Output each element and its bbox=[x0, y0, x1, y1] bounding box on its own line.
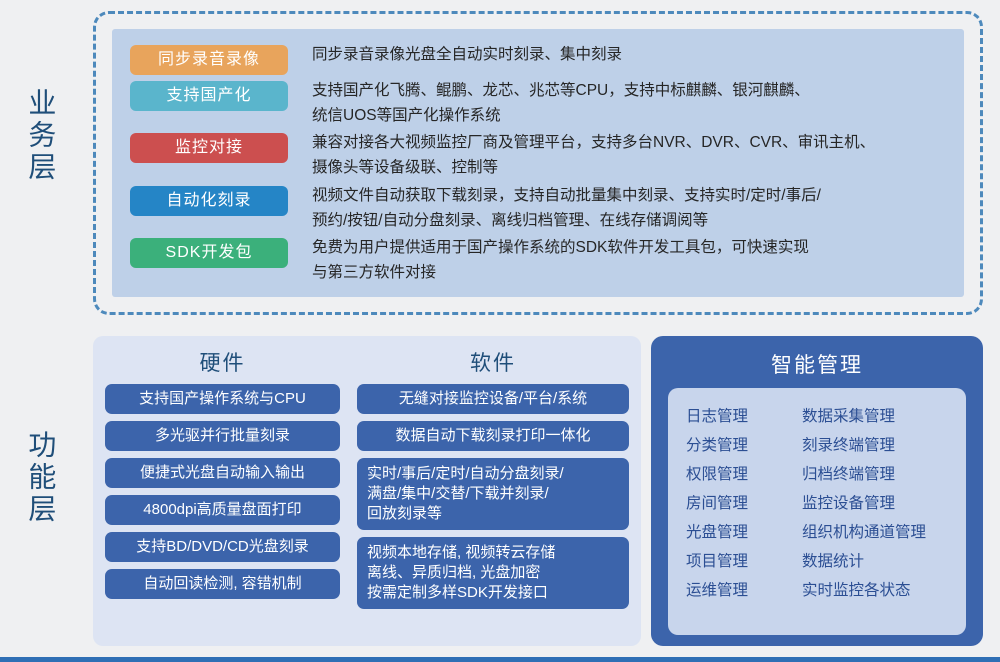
management-item[interactable]: 项目管理 bbox=[686, 547, 790, 576]
management-item[interactable]: 运维管理 bbox=[686, 576, 790, 605]
management-item-grid: 日志管理分类管理权限管理房间管理光盘管理项目管理运维管理 数据采集管理刻录终端管… bbox=[668, 388, 966, 635]
software-item-line: 实时/事后/定时/自动分盘刻录/ bbox=[367, 464, 619, 484]
hardware-item[interactable]: 多光驱并行批量刻录 bbox=[105, 421, 340, 451]
management-item[interactable]: 权限管理 bbox=[686, 460, 790, 489]
business-feature-description: 同步录音录像光盘全自动实时刻录、集中刻录 bbox=[312, 41, 954, 67]
hardware-column: 硬件 支持国产操作系统与CPU多光驱并行批量刻录便捷式光盘自动输入输出4800d… bbox=[101, 342, 344, 638]
management-column-left: 日志管理分类管理权限管理房间管理光盘管理项目管理运维管理 bbox=[680, 402, 790, 625]
management-item[interactable]: 日志管理 bbox=[686, 402, 790, 431]
business-feature-description-line: 预约/按钮/自动分盘刻录、离线归档管理、在线存储调阅等 bbox=[312, 208, 954, 233]
hardware-item[interactable]: 支持BD/DVD/CD光盘刻录 bbox=[105, 532, 340, 562]
software-item[interactable]: 无缝对接监控设备/平台/系统 bbox=[357, 384, 629, 414]
business-feature-row: 支持国产化支持国产化飞腾、鲲鹏、龙芯、兆芯等CPU，支持中标麒麟、银河麒麟、统信… bbox=[112, 77, 964, 130]
function-layer-panel: 硬件 支持国产操作系统与CPU多光驱并行批量刻录便捷式光盘自动输入输出4800d… bbox=[93, 336, 641, 646]
business-feature-description-line: 同步录音录像光盘全自动实时刻录、集中刻录 bbox=[312, 42, 954, 67]
management-panel: 智能管理 日志管理分类管理权限管理房间管理光盘管理项目管理运维管理 数据采集管理… bbox=[651, 336, 983, 646]
software-item-line: 无缝对接监控设备/平台/系统 bbox=[365, 389, 621, 409]
management-item[interactable]: 刻录终端管理 bbox=[802, 431, 954, 460]
software-item-line: 回放刻录等 bbox=[367, 504, 619, 524]
business-feature-description: 视频文件自动获取下载刻录，支持自动批量集中刻录、支持实时/定时/事后/预约/按钮… bbox=[312, 182, 954, 233]
business-feature-badge[interactable]: 同步录音录像 bbox=[130, 45, 288, 75]
management-item[interactable]: 数据采集管理 bbox=[802, 402, 954, 431]
business-feature-description: 免费为用户提供适用于国产操作系统的SDK软件开发工具包，可快速实现与第三方软件对… bbox=[312, 234, 954, 285]
business-feature-description-line: 统信UOS等国产化操作系统 bbox=[312, 103, 954, 128]
hardware-column-title: 硬件 bbox=[101, 347, 344, 377]
hardware-item[interactable]: 自动回读检测, 容错机制 bbox=[105, 569, 340, 599]
management-item[interactable]: 分类管理 bbox=[686, 431, 790, 460]
business-feature-badge[interactable]: SDK开发包 bbox=[130, 238, 288, 268]
management-panel-title: 智能管理 bbox=[659, 349, 975, 379]
business-feature-description-line: 免费为用户提供适用于国产操作系统的SDK软件开发工具包，可快速实现 bbox=[312, 235, 954, 260]
bottom-accent-bar bbox=[0, 657, 1000, 662]
hardware-item-list: 支持国产操作系统与CPU多光驱并行批量刻录便捷式光盘自动输入输出4800dpi高… bbox=[101, 384, 344, 606]
business-feature-description-line: 摄像头等设备级联、控制等 bbox=[312, 155, 954, 180]
management-item[interactable]: 光盘管理 bbox=[686, 518, 790, 547]
management-item[interactable]: 监控设备管理 bbox=[802, 489, 954, 518]
layer-label-function: 功能层 bbox=[26, 430, 55, 526]
business-feature-description-line: 与第三方软件对接 bbox=[312, 260, 954, 285]
software-item[interactable]: 视频本地存储, 视频转云存储离线、异质归档, 光盘加密按需定制多样SDK开发接口 bbox=[357, 537, 629, 609]
software-item-line: 视频本地存储, 视频转云存储 bbox=[367, 543, 619, 563]
management-column-right: 数据采集管理刻录终端管理归档终端管理监控设备管理组织机构通道管理数据统计实时监控… bbox=[790, 402, 954, 625]
business-feature-row: 监控对接兼容对接各大视频监控厂商及管理平台，支持多台NVR、DVR、CVR、审讯… bbox=[112, 129, 964, 182]
business-feature-badge[interactable]: 监控对接 bbox=[130, 133, 288, 163]
business-feature-badge[interactable]: 自动化刻录 bbox=[130, 186, 288, 216]
management-item[interactable]: 组织机构通道管理 bbox=[802, 518, 954, 547]
management-item[interactable]: 归档终端管理 bbox=[802, 460, 954, 489]
software-item-line: 满盘/集中/交替/下载并刻录/ bbox=[367, 484, 619, 504]
software-column-title: 软件 bbox=[353, 347, 633, 377]
business-feature-row: SDK开发包免费为用户提供适用于国产操作系统的SDK软件开发工具包，可快速实现与… bbox=[112, 234, 964, 287]
software-item[interactable]: 数据自动下载刻录打印一体化 bbox=[357, 421, 629, 451]
business-feature-row: 自动化刻录视频文件自动获取下载刻录，支持自动批量集中刻录、支持实时/定时/事后/… bbox=[112, 182, 964, 235]
software-item-line: 按需定制多样SDK开发接口 bbox=[367, 583, 619, 603]
management-item[interactable]: 实时监控各状态 bbox=[802, 576, 954, 605]
software-item-line: 离线、异质归档, 光盘加密 bbox=[367, 563, 619, 583]
business-feature-description: 支持国产化飞腾、鲲鹏、龙芯、兆芯等CPU，支持中标麒麟、银河麒麟、统信UOS等国… bbox=[312, 77, 954, 128]
business-layer-panel: 同步录音录像同步录音录像光盘全自动实时刻录、集中刻录支持国产化支持国产化飞腾、鲲… bbox=[112, 29, 964, 297]
business-feature-badge[interactable]: 支持国产化 bbox=[130, 81, 288, 111]
management-item[interactable]: 房间管理 bbox=[686, 489, 790, 518]
business-feature-description: 兼容对接各大视频监控厂商及管理平台，支持多台NVR、DVR、CVR、审讯主机、摄… bbox=[312, 129, 954, 180]
hardware-item[interactable]: 支持国产操作系统与CPU bbox=[105, 384, 340, 414]
layer-label-business: 业务层 bbox=[26, 88, 55, 184]
business-feature-description-line: 视频文件自动获取下载刻录，支持自动批量集中刻录、支持实时/定时/事后/ bbox=[312, 183, 954, 208]
hardware-item[interactable]: 4800dpi高质量盘面打印 bbox=[105, 495, 340, 525]
business-feature-row: 同步录音录像同步录音录像光盘全自动实时刻录、集中刻录 bbox=[112, 41, 964, 77]
software-item-list: 无缝对接监控设备/平台/系统数据自动下载刻录打印一体化实时/事后/定时/自动分盘… bbox=[353, 384, 633, 616]
management-item[interactable]: 数据统计 bbox=[802, 547, 954, 576]
business-feature-description-line: 支持国产化飞腾、鲲鹏、龙芯、兆芯等CPU，支持中标麒麟、银河麒麟、 bbox=[312, 78, 954, 103]
business-feature-description-line: 兼容对接各大视频监控厂商及管理平台，支持多台NVR、DVR、CVR、审讯主机、 bbox=[312, 130, 954, 155]
business-feature-list: 同步录音录像同步录音录像光盘全自动实时刻录、集中刻录支持国产化支持国产化飞腾、鲲… bbox=[112, 29, 964, 297]
software-column: 软件 无缝对接监控设备/平台/系统数据自动下载刻录打印一体化实时/事后/定时/自… bbox=[353, 342, 633, 638]
software-item[interactable]: 实时/事后/定时/自动分盘刻录/满盘/集中/交替/下载并刻录/回放刻录等 bbox=[357, 458, 629, 530]
software-item-line: 数据自动下载刻录打印一体化 bbox=[365, 426, 621, 446]
hardware-item[interactable]: 便捷式光盘自动输入输出 bbox=[105, 458, 340, 488]
